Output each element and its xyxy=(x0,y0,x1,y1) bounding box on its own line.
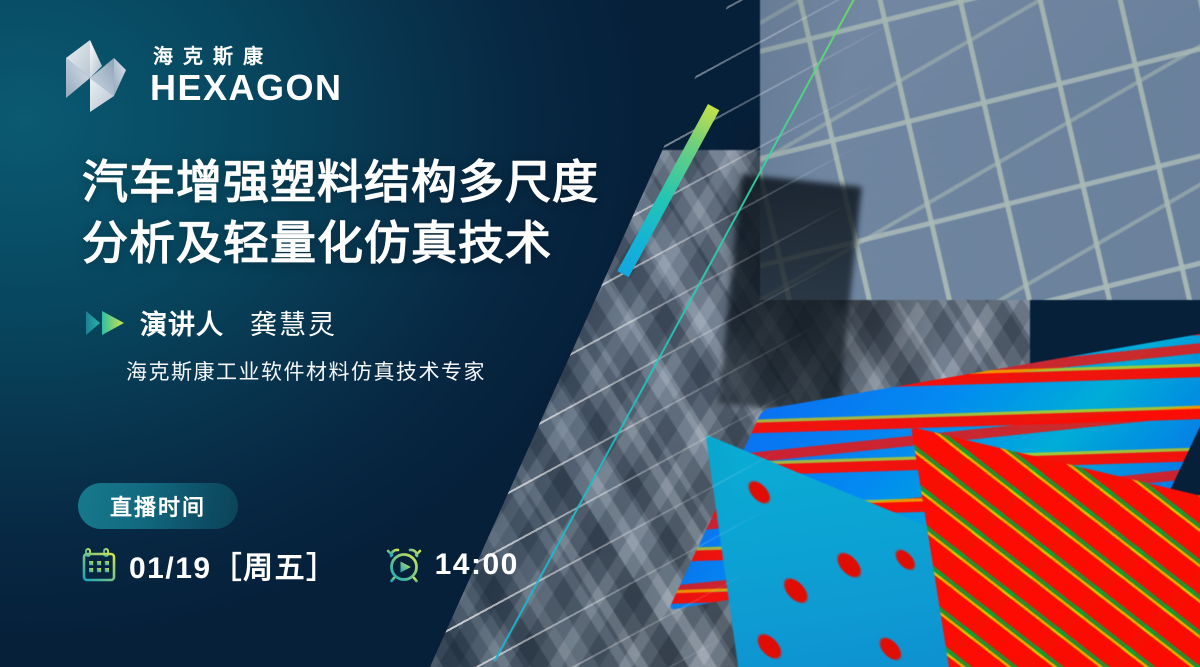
content-column: 海克斯康 HEXAGON 汽车增强塑料结构多尺度 分析及轻量化仿真技术 xyxy=(0,0,700,667)
title-line-2: 分析及轻量化仿真技术 xyxy=(82,213,622,274)
brand-wordmark: 海克斯康 HEXAGON xyxy=(150,46,343,106)
double-triangle-icon xyxy=(86,309,126,337)
hexagon-logo-mark-icon xyxy=(60,36,132,116)
title-line-1: 汽车增强塑料结构多尺度 xyxy=(82,152,622,213)
brand-logo: 海克斯康 HEXAGON xyxy=(60,36,343,116)
brand-name-en: HEXAGON xyxy=(150,70,343,106)
speaker-row: 演讲人 龚慧灵 xyxy=(86,303,337,342)
speaker-name: 龚慧灵 xyxy=(250,303,337,342)
schedule-date-item: 01/19［周五］ xyxy=(82,543,338,587)
alarm-clock-icon xyxy=(386,547,422,583)
calendar-icon xyxy=(82,548,116,582)
schedule-date: 01/19［周五］ xyxy=(129,543,338,587)
webinar-banner: 海克斯康 HEXAGON 汽车增强塑料结构多尺度 分析及轻量化仿真技术 xyxy=(0,0,1200,667)
schedule-row: 01/19［周五］ xyxy=(82,543,519,587)
speaker-label: 演讲人 xyxy=(140,303,224,342)
schedule-time: 14:00 xyxy=(435,548,519,582)
brand-name-cn: 海克斯康 xyxy=(150,46,343,69)
live-time-badge: 直播时间 xyxy=(78,483,238,529)
schedule-time-item: 14:00 xyxy=(386,547,519,583)
page-title: 汽车增强塑料结构多尺度 分析及轻量化仿真技术 xyxy=(82,152,622,274)
live-time-badge-label: 直播时间 xyxy=(110,490,206,522)
speaker-subtitle: 海克斯康工业软件材料仿真技术专家 xyxy=(126,356,486,386)
